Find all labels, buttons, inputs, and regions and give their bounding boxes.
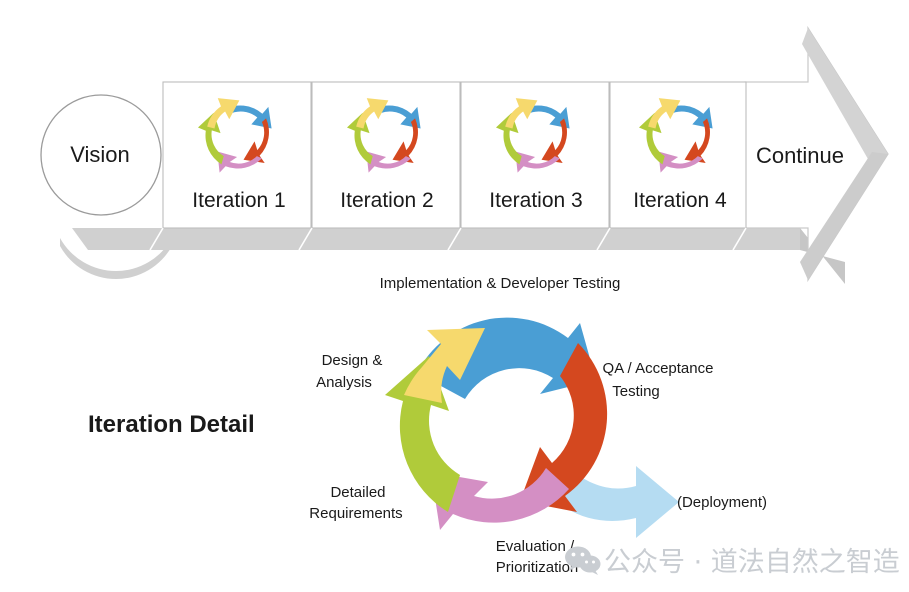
timeline-band: Continue Vision Iteration 1 Iteration 2 [41,28,888,284]
label-qa-line2: Testing [612,383,660,400]
label-design-line2: Analysis [316,374,372,391]
iteration-label: Iteration 3 [489,189,582,212]
watermark-text: 公众号 · 道法自然之智造 [604,547,900,578]
iteration-box-3[interactable]: Iteration 3 [461,82,609,228]
page-title: Iteration Detail [88,411,255,438]
iteration-box-2[interactable]: Iteration 2 [312,82,460,228]
vision-label: Vision [70,142,130,167]
label-evaluation-line2: Prioritization [496,559,579,576]
cycle-labels: Implementation & Developer Testing QA / … [309,275,767,576]
iteration-label: Iteration 4 [633,189,727,212]
watermark: 公众号 · 道法自然之智造 [565,547,900,579]
iteration-label: Iteration 1 [192,189,285,212]
label-requirements-line2: Requirements [309,505,402,522]
label-qa-line1: QA / Acceptance [603,360,714,377]
iteration-detail-cycle [385,318,679,538]
diagram-canvas: Continue Vision Iteration 1 Iteration 2 [0,0,909,592]
label-design-line1: Design & [322,352,383,369]
label-evaluation-line1: Evaluation / [496,538,575,555]
label-deployment: (Deployment) [677,494,767,511]
label-implementation: Implementation & Developer Testing [380,275,621,292]
iteration-box-1[interactable]: Iteration 1 [163,82,311,228]
vision-node[interactable]: Vision [41,95,172,279]
label-requirements-line1: Detailed [330,484,385,501]
iteration-label: Iteration 2 [340,189,433,212]
continue-label: Continue [756,143,844,168]
iteration-box-4[interactable]: Iteration 4 [610,82,746,228]
